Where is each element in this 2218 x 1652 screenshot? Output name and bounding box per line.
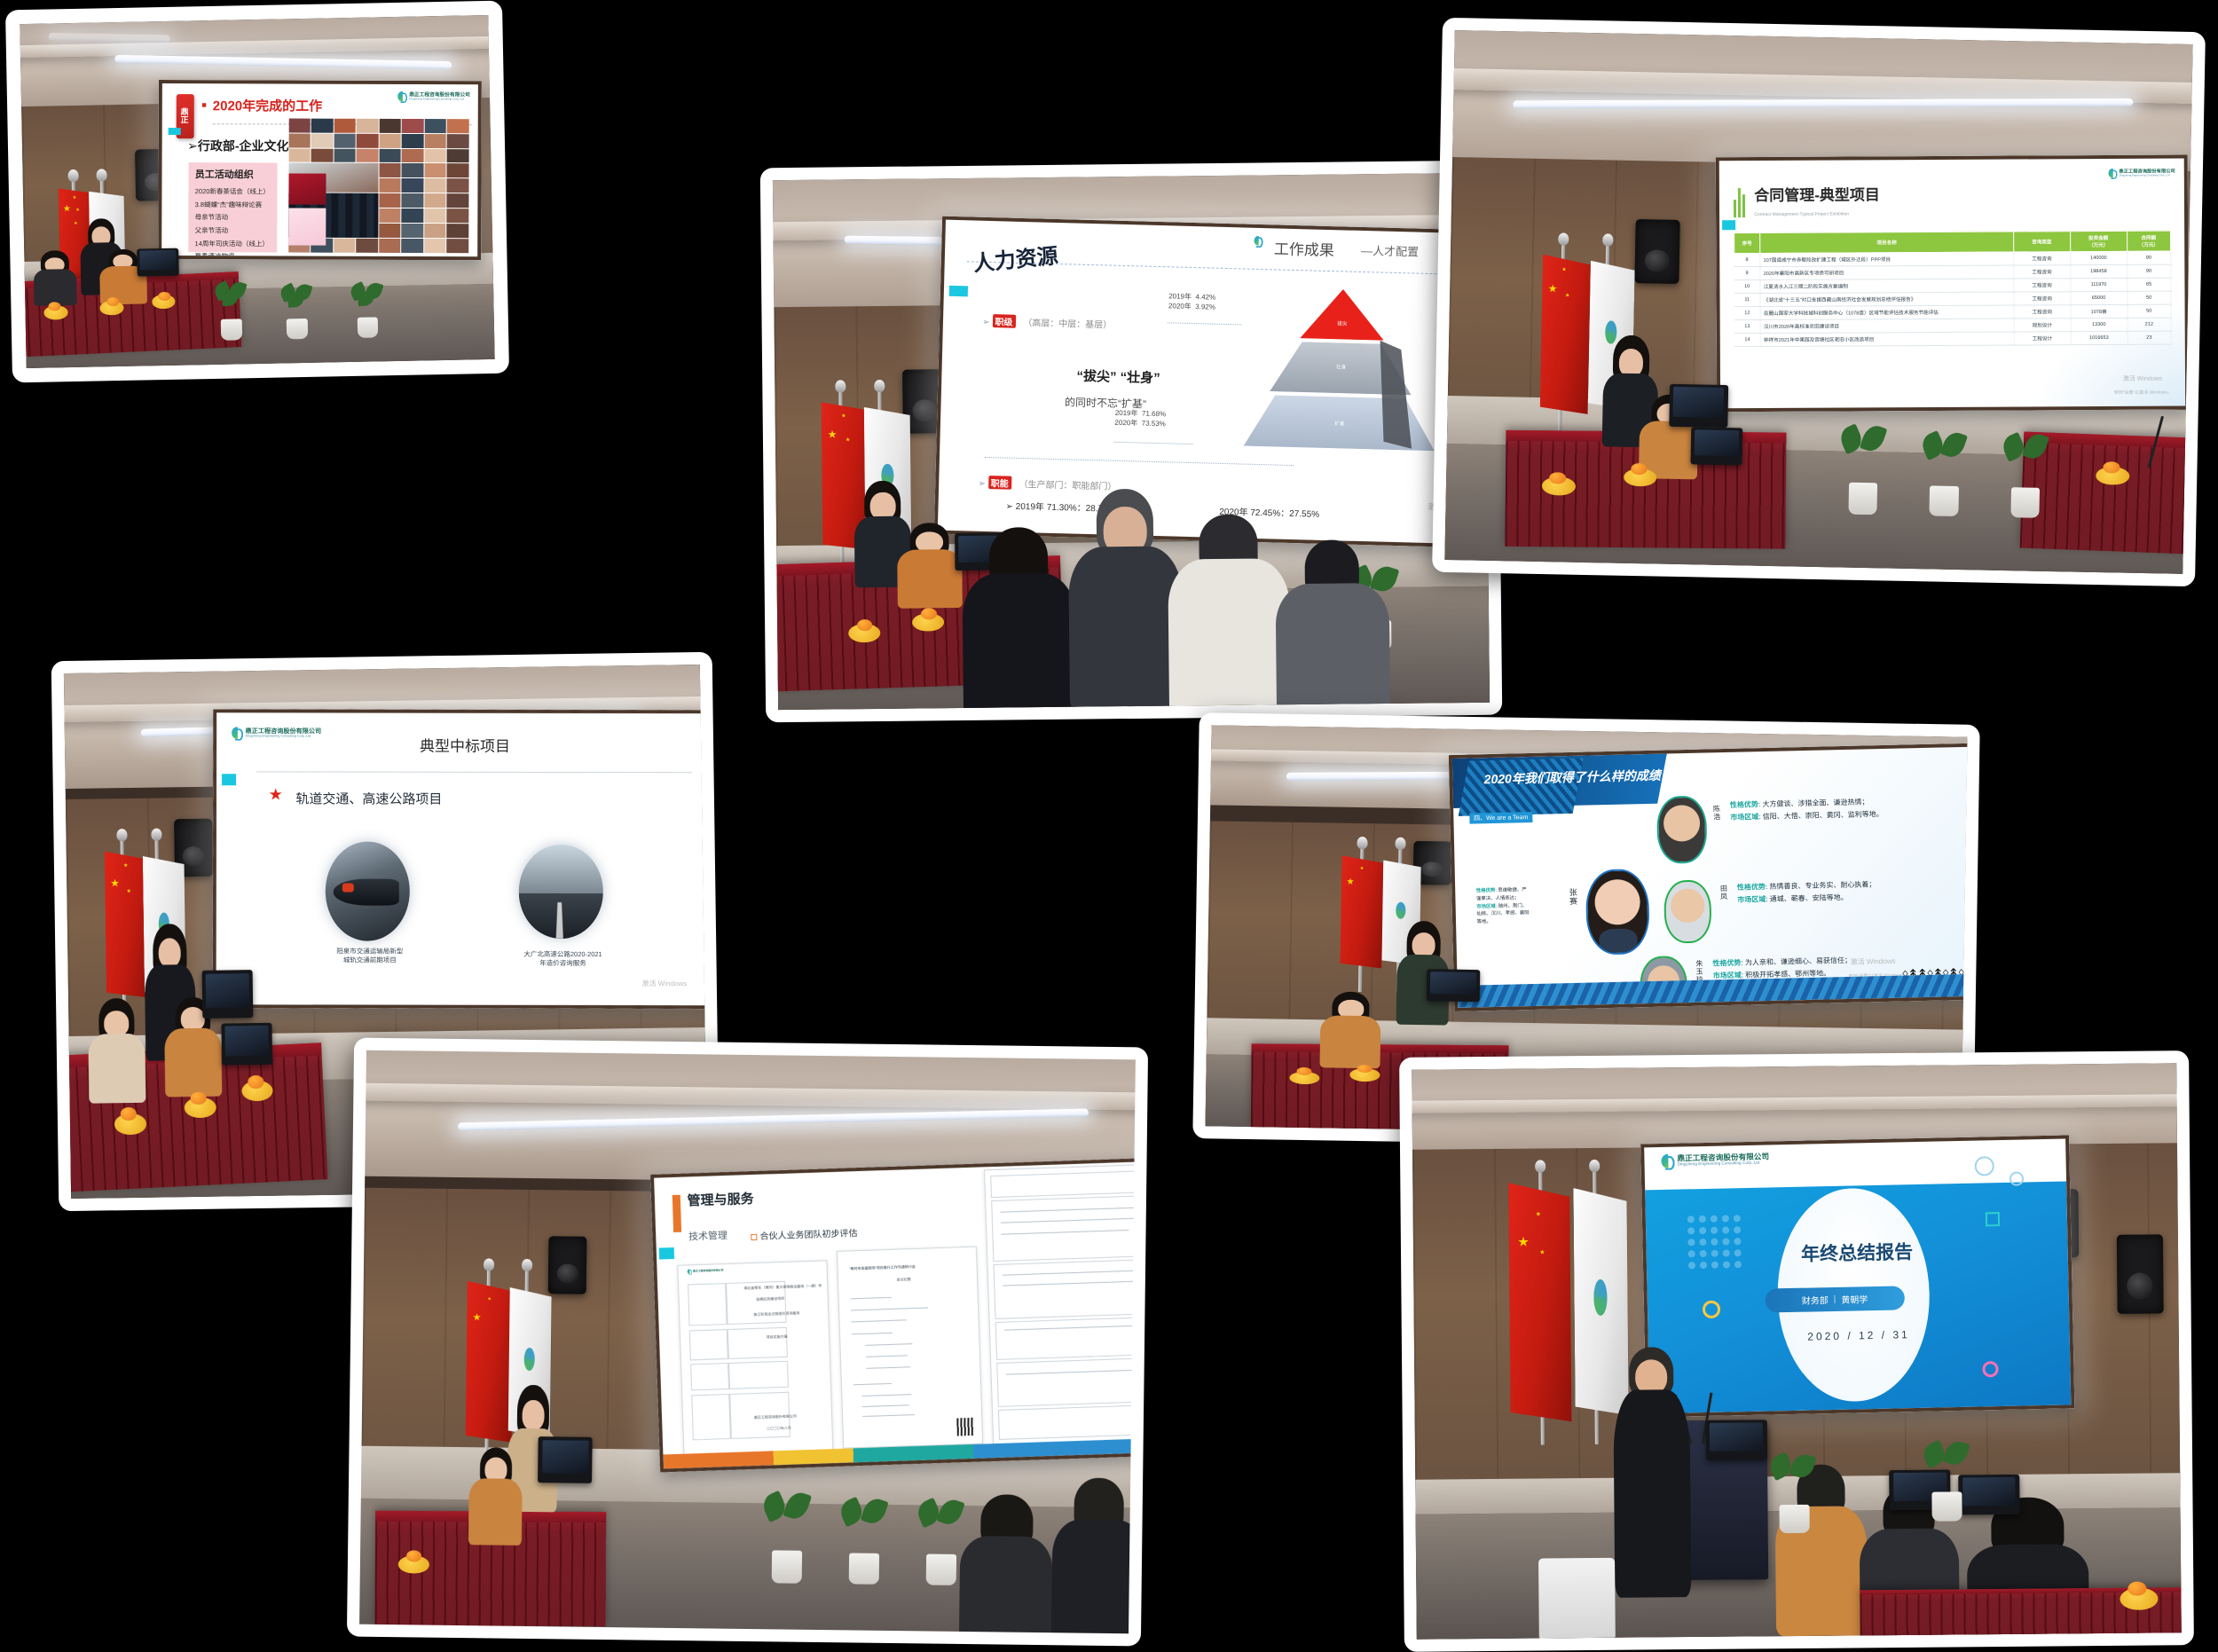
- doc2-title: “黄冈市金盛医院”项目推行工作沟通研讨会: [850, 1264, 916, 1271]
- chair: [1538, 1558, 1616, 1639]
- activity-panel: 员工活动组织 2020新春茶话会（线上） 3.8蝴蝶“杰”趣味辩论赛 母亲节活动…: [189, 162, 278, 252]
- cell-amount: 50: [2127, 291, 2170, 304]
- cell-amount: 65: [2127, 278, 2170, 291]
- dingzheng-leaf-logo-icon: [688, 1269, 692, 1274]
- avatar-tian-feng: [1663, 880, 1712, 943]
- photo-card-hr-pyramid[interactable]: ★ ★ ★ 工作成果 —人才配置 人力资源: [760, 161, 1502, 723]
- cell-invest: 198458: [2070, 264, 2127, 278]
- laptop[interactable]: [1705, 1420, 1766, 1460]
- cell-type: 工程咨询: [2013, 252, 2070, 265]
- dingzheng-leaf-logo-icon: [232, 728, 242, 740]
- slide-typical-bids: 鼎正工程咨询股份有限公司 Dingzheng Engineering Consu…: [216, 713, 707, 1006]
- audience-silhouette: [959, 1494, 1053, 1634]
- member-row-1: 性格优势: 大方健谈、涉猎全面、谦逊热情； 市场区域: 信阳、大悟、崇阳、黄冈、…: [1729, 797, 1883, 825]
- cell-invest: 111970: [2070, 278, 2127, 291]
- windows-watermark: 激活 Windows: [1850, 956, 1895, 967]
- pill-separator: |: [1833, 1294, 1836, 1304]
- dingzheng-leaf-logo-icon: [1255, 235, 1263, 245]
- cell-index: 8: [1734, 254, 1760, 267]
- china-flag: ★ ★: [466, 1281, 514, 1443]
- company-logo: 鼎正工程咨询股份有限公司 Dingzheng Engineering Consu…: [398, 91, 471, 102]
- cell-type: 工程咨询: [2013, 292, 2070, 305]
- presenter-name: 黄朝学: [1841, 1293, 1868, 1307]
- company-name-en: Dingzheng Engineering Consulting Corp.,L…: [410, 98, 471, 101]
- member-row-2: 性格优势: 热情善良、专业务实、耐心执着； 市场区域: 通城、蕲春、安陆等地。: [1736, 879, 1876, 908]
- document-preview-3: [985, 1164, 1136, 1446]
- cell-type: 工程咨询: [2013, 305, 2070, 319]
- panel-item: 母亲节活动: [195, 211, 271, 224]
- laptop[interactable]: [137, 248, 179, 277]
- slide-title: 管理与服务: [688, 1189, 755, 1209]
- laptop[interactable]: [538, 1437, 592, 1483]
- bid-card-caption-1: 阳泉市交通运输局新型 城轨交通前期项目: [295, 947, 444, 965]
- audience-silhouette: [1067, 489, 1184, 711]
- cell-type: 工程咨询: [2013, 265, 2070, 279]
- projection-screen-7: 鼎正工程咨询股份有限公司 Dingzheng Engineering Consu…: [1640, 1136, 2074, 1418]
- projection-screen-1: 鼎正 ■ 2020年完成的工作 ➢行政部-企业文化 员工活动组织 2020新春茶…: [158, 80, 482, 260]
- cell-index: 12: [1734, 307, 1760, 320]
- document-preview-2: “黄冈市金盛医院”项目推行工作沟通研讨会 会议纪要: [837, 1246, 983, 1448]
- laptop[interactable]: [201, 971, 253, 1019]
- laptop[interactable]: [222, 1022, 273, 1065]
- th-amount: 合同额 （万元）: [2127, 231, 2170, 251]
- doc1-title-line: 染病区改建设项目: [757, 1296, 785, 1302]
- cell-amount: 212: [2127, 318, 2170, 331]
- audience-silhouette: [962, 527, 1078, 711]
- company-name-en: Dingzheng Engineering Consulting Corp.,L…: [245, 736, 321, 739]
- th-index: 序号: [1734, 233, 1760, 254]
- slide-title: 2020年完成的工作: [213, 96, 322, 114]
- audience-silhouette: [1275, 539, 1390, 710]
- photo-card-cover[interactable]: ★ ★ ★ 鼎正工程咨询股份有限公司 Dingzheng En: [1399, 1050, 2194, 1652]
- avatar-chen-hao: [1656, 795, 1708, 863]
- pyramid-cap-base: 扩基: [1335, 420, 1345, 427]
- slogan-line-1: “拔尖” “壮身”: [1077, 366, 1161, 386]
- china-flag: ★ ★ ★: [1540, 255, 1592, 414]
- presenter-pill: 财务部 | 黄朝学: [1765, 1286, 1904, 1313]
- doc1-footer-line: 鼎正工程咨询股份有限公司: [754, 1414, 797, 1421]
- function-tag: 职能: [988, 476, 1011, 490]
- slide-title: 合同管理-典型项目: [1754, 183, 1880, 206]
- audience-silhouette: [1168, 514, 1291, 710]
- th-invest: 投资金额 （万元）: [2070, 231, 2127, 251]
- slide-subtitle: ➢行政部-企业文化: [187, 137, 288, 154]
- projection-screen-4: 鼎正工程咨询股份有限公司 Dingzheng Engineering Consu…: [212, 710, 707, 1010]
- cell-index: 13: [1734, 320, 1760, 334]
- cell-invest: 13300: [2070, 318, 2127, 331]
- laptop[interactable]: [1669, 384, 1728, 428]
- attendee[interactable]: [1319, 992, 1380, 1069]
- panel-item: 3.8蝴蝶“杰”趣味辩论赛: [195, 199, 271, 212]
- doc1-title-line: 项目实施方案: [767, 1334, 788, 1341]
- attendee[interactable]: [34, 250, 77, 306]
- slide-subtitle-en: Contract Management-Typical Project Exhi…: [1754, 212, 1849, 218]
- doc1-footer-line: 二〇二〇年八月: [767, 1426, 791, 1432]
- highway-photo: [518, 845, 602, 939]
- slide-contract-management: 合同管理-典型项目 Contract Management-Typical Pr…: [1719, 159, 2185, 408]
- dingzheng-leaf-logo-icon: [1661, 1154, 1674, 1168]
- projection-screen-3: 合同管理-典型项目 Contract Management-Typical Pr…: [1715, 155, 2189, 412]
- pyramid-cap-top: 拔尖: [1338, 319, 1348, 326]
- china-flag: ★ ★ ★: [1508, 1183, 1571, 1422]
- audience-silhouette: [1051, 1478, 1136, 1634]
- projection-screen-5: 2020年我们取得了什么样的成绩 四、We are a Team 性格优势: 思…: [1448, 743, 1967, 1012]
- potted-plant: [212, 281, 250, 341]
- section-tag: 四、We are a Team: [1469, 812, 1532, 824]
- company-name-en: Dingzheng Engineering Consulting Corp.,L…: [1677, 1160, 1769, 1167]
- red-star-icon: ★: [269, 786, 283, 805]
- cell-amount: 90: [2127, 251, 2170, 264]
- slide-2020-work: 鼎正 ■ 2020年完成的工作 ➢行政部-企业文化 员工活动组织 2020新春茶…: [161, 83, 478, 256]
- checkbox-label: 合伙人业务团队初步评估: [751, 1225, 858, 1242]
- cell-invest: 1016653: [2070, 331, 2127, 344]
- slide-header-title: 工作成果: [1274, 236, 1335, 260]
- th-type: 咨询类型: [2013, 232, 2070, 252]
- windows-watermark-sub: 转到“设置”以激活 Windows。: [2113, 389, 2171, 396]
- photo-card-admin-culture[interactable]: ★ ★ ★ ★ 鼎正 ■ 2020年完成的工作: [5, 1, 509, 383]
- pyramid-chart: 拔尖 壮身 扩基: [1244, 287, 1439, 460]
- decor-square: [1985, 1213, 1999, 1227]
- cell-project: 钟祥市2021年中果园及宫塘社区老旧小区改造项目: [1760, 332, 2013, 346]
- attendee[interactable]: [897, 523, 962, 608]
- member-name-left: 张赛: [1567, 888, 1578, 906]
- windows-watermark: 激活 Windows: [2122, 374, 2161, 383]
- china-flag: ★ ★: [1340, 855, 1383, 968]
- cell-type: 工程设计: [2013, 332, 2070, 345]
- slide-hr-allocation: 工作成果 —人才配置 人力资源 ➢ 职级 （高层：中层：基层） “拔尖” “壮身…: [938, 219, 1490, 545]
- doc1-title-line: 施工阶段全过程造价咨询服务: [754, 1311, 800, 1318]
- cell-invest: 65000: [2070, 291, 2127, 304]
- slide-management-service: 管理与服务 技术管理 合伙人业务团队初步评估 鼎正工程咨询股份有限公司: [655, 1161, 1136, 1469]
- company-name-en: Dingzheng Engineering Consulting Corp.,L…: [2119, 175, 2175, 177]
- photo-card-management-service[interactable]: ★ ★ 管理与服务 技术管理 合伙人业务团队初步评估: [347, 1038, 1148, 1647]
- windows-watermark: 激活 Windows: [641, 979, 687, 988]
- slide-header-suffix: —人才配置: [1361, 241, 1419, 260]
- bid-card-caption-2: 大广北高速公路2020-2021 年造价咨询服务: [489, 950, 638, 969]
- avatar-main: [1585, 869, 1649, 955]
- cell-invest: 1078亩: [2070, 304, 2127, 318]
- th-project: 项目名称: [1759, 232, 2012, 253]
- cell-index: 10: [1734, 280, 1760, 294]
- cell-amount: 90: [2127, 264, 2170, 278]
- checkbox-icon[interactable]: [751, 1233, 758, 1239]
- photo-card-contract-table[interactable]: ★ ★ ★ 合同管理-典型项目 Contract Management-Typi…: [1432, 18, 2206, 586]
- decor-dot-grid: [1687, 1215, 1742, 1270]
- slide-title: 典型中标项目: [420, 734, 510, 756]
- cell-type: 工程咨询: [2013, 279, 2070, 292]
- table-row: 14钟祥市2021年中果园及宫塘社区老旧小区改造项目工程设计101665323: [1734, 331, 2170, 347]
- projection-screen-2: 工作成果 —人才配置 人力资源 ➢ 职级 （高层：中层：基层） “拔尖” “壮身…: [934, 216, 1490, 548]
- department-label: 财务部: [1801, 1294, 1828, 1308]
- left-member-note: 性格优势: 思维敏捷、严 谨果决、人情练达； 市场区域: 随州、荆门、 仙桃、汉…: [1475, 886, 1560, 926]
- rank-tag: 职级: [993, 314, 1016, 328]
- attendee[interactable]: [468, 1448, 523, 1546]
- cell-index: 11: [1734, 294, 1760, 307]
- pyramid-label-top: 2019年 4.42%2020年 3.92%: [1168, 291, 1216, 313]
- slide-cover-annual-report: 鼎正工程咨询股份有限公司 Dingzheng Engineering Consu…: [1644, 1139, 2071, 1414]
- panel-heading: 员工活动组织: [195, 167, 271, 181]
- pyramid-level-top: [1301, 287, 1386, 340]
- cell-type: 规划设计: [2013, 319, 2070, 332]
- brush-calligraphy: 人力资源: [972, 245, 1059, 274]
- slide-section: 轨道交通、高速公路项目: [295, 789, 442, 807]
- cell-amount: 50: [2127, 304, 2170, 318]
- laptop[interactable]: [1427, 969, 1480, 1002]
- attendee[interactable]: [88, 998, 146, 1104]
- train-photo: [325, 842, 409, 941]
- speaker-at-podium[interactable]: [1613, 1347, 1692, 1598]
- dingzheng-leaf-logo-icon: [398, 91, 407, 101]
- cell-index: 14: [1734, 334, 1760, 347]
- dingzheng-leaf-logo-icon: [2108, 169, 2117, 178]
- member-name-2: 田凤: [1719, 885, 1728, 901]
- rank-note: （高层：中层：基层）: [1024, 319, 1113, 331]
- member-name-1: 陈浩: [1711, 805, 1721, 821]
- pyramid-cap-mid: 壮身: [1337, 363, 1347, 370]
- panel-item: 父亲节活动: [195, 224, 271, 238]
- pyramid-label-base: 2019年 71.68%2020年 73.53%: [1115, 407, 1167, 429]
- cell-invest: 140000: [2070, 251, 2127, 264]
- cell-index: 9: [1734, 267, 1760, 280]
- panel-item: 14周年司庆活动（线上）: [195, 238, 271, 251]
- laptop[interactable]: [1690, 427, 1742, 465]
- document-preview-1: 鼎正工程咨询股份有限公司 湖北省鄂东（黄冈）重大疫情救治基地（一期）传 染: [677, 1260, 833, 1457]
- panel-item: 夏季清凉物资: [195, 250, 271, 256]
- cover-main-title: 年终总结报告: [1800, 1239, 1913, 1268]
- contract-table: 序号 项目名称 咨询类型 投资金额 （万元） 合同额 （万元） 8107国道咸宁…: [1733, 231, 2171, 348]
- table-header-row: 序号 项目名称 咨询类型 投资金额 （万元） 合同额 （万元）: [1734, 231, 2170, 254]
- company-name-cn: 鼎正工程咨询股份有限公司: [410, 92, 471, 98]
- photo-collage: ★ ★ ★ ★ 鼎正 ■ 2020年完成的工作: [0, 0, 2218, 1650]
- panel-item: 2020新春茶话会（线上）: [195, 185, 271, 199]
- doc2-sub: 会议纪要: [897, 1277, 911, 1283]
- projection-screen-6: 管理与服务 技术管理 合伙人业务团队初步评估 鼎正工程咨询股份有限公司: [650, 1158, 1136, 1473]
- slide-we-are-a-team: 2020年我们取得了什么样的成绩 四、We are a Team 性格优势: 思…: [1451, 747, 1967, 1009]
- cell-amount: 23: [2127, 331, 2170, 344]
- slide-subtitle: 技术管理: [688, 1228, 728, 1243]
